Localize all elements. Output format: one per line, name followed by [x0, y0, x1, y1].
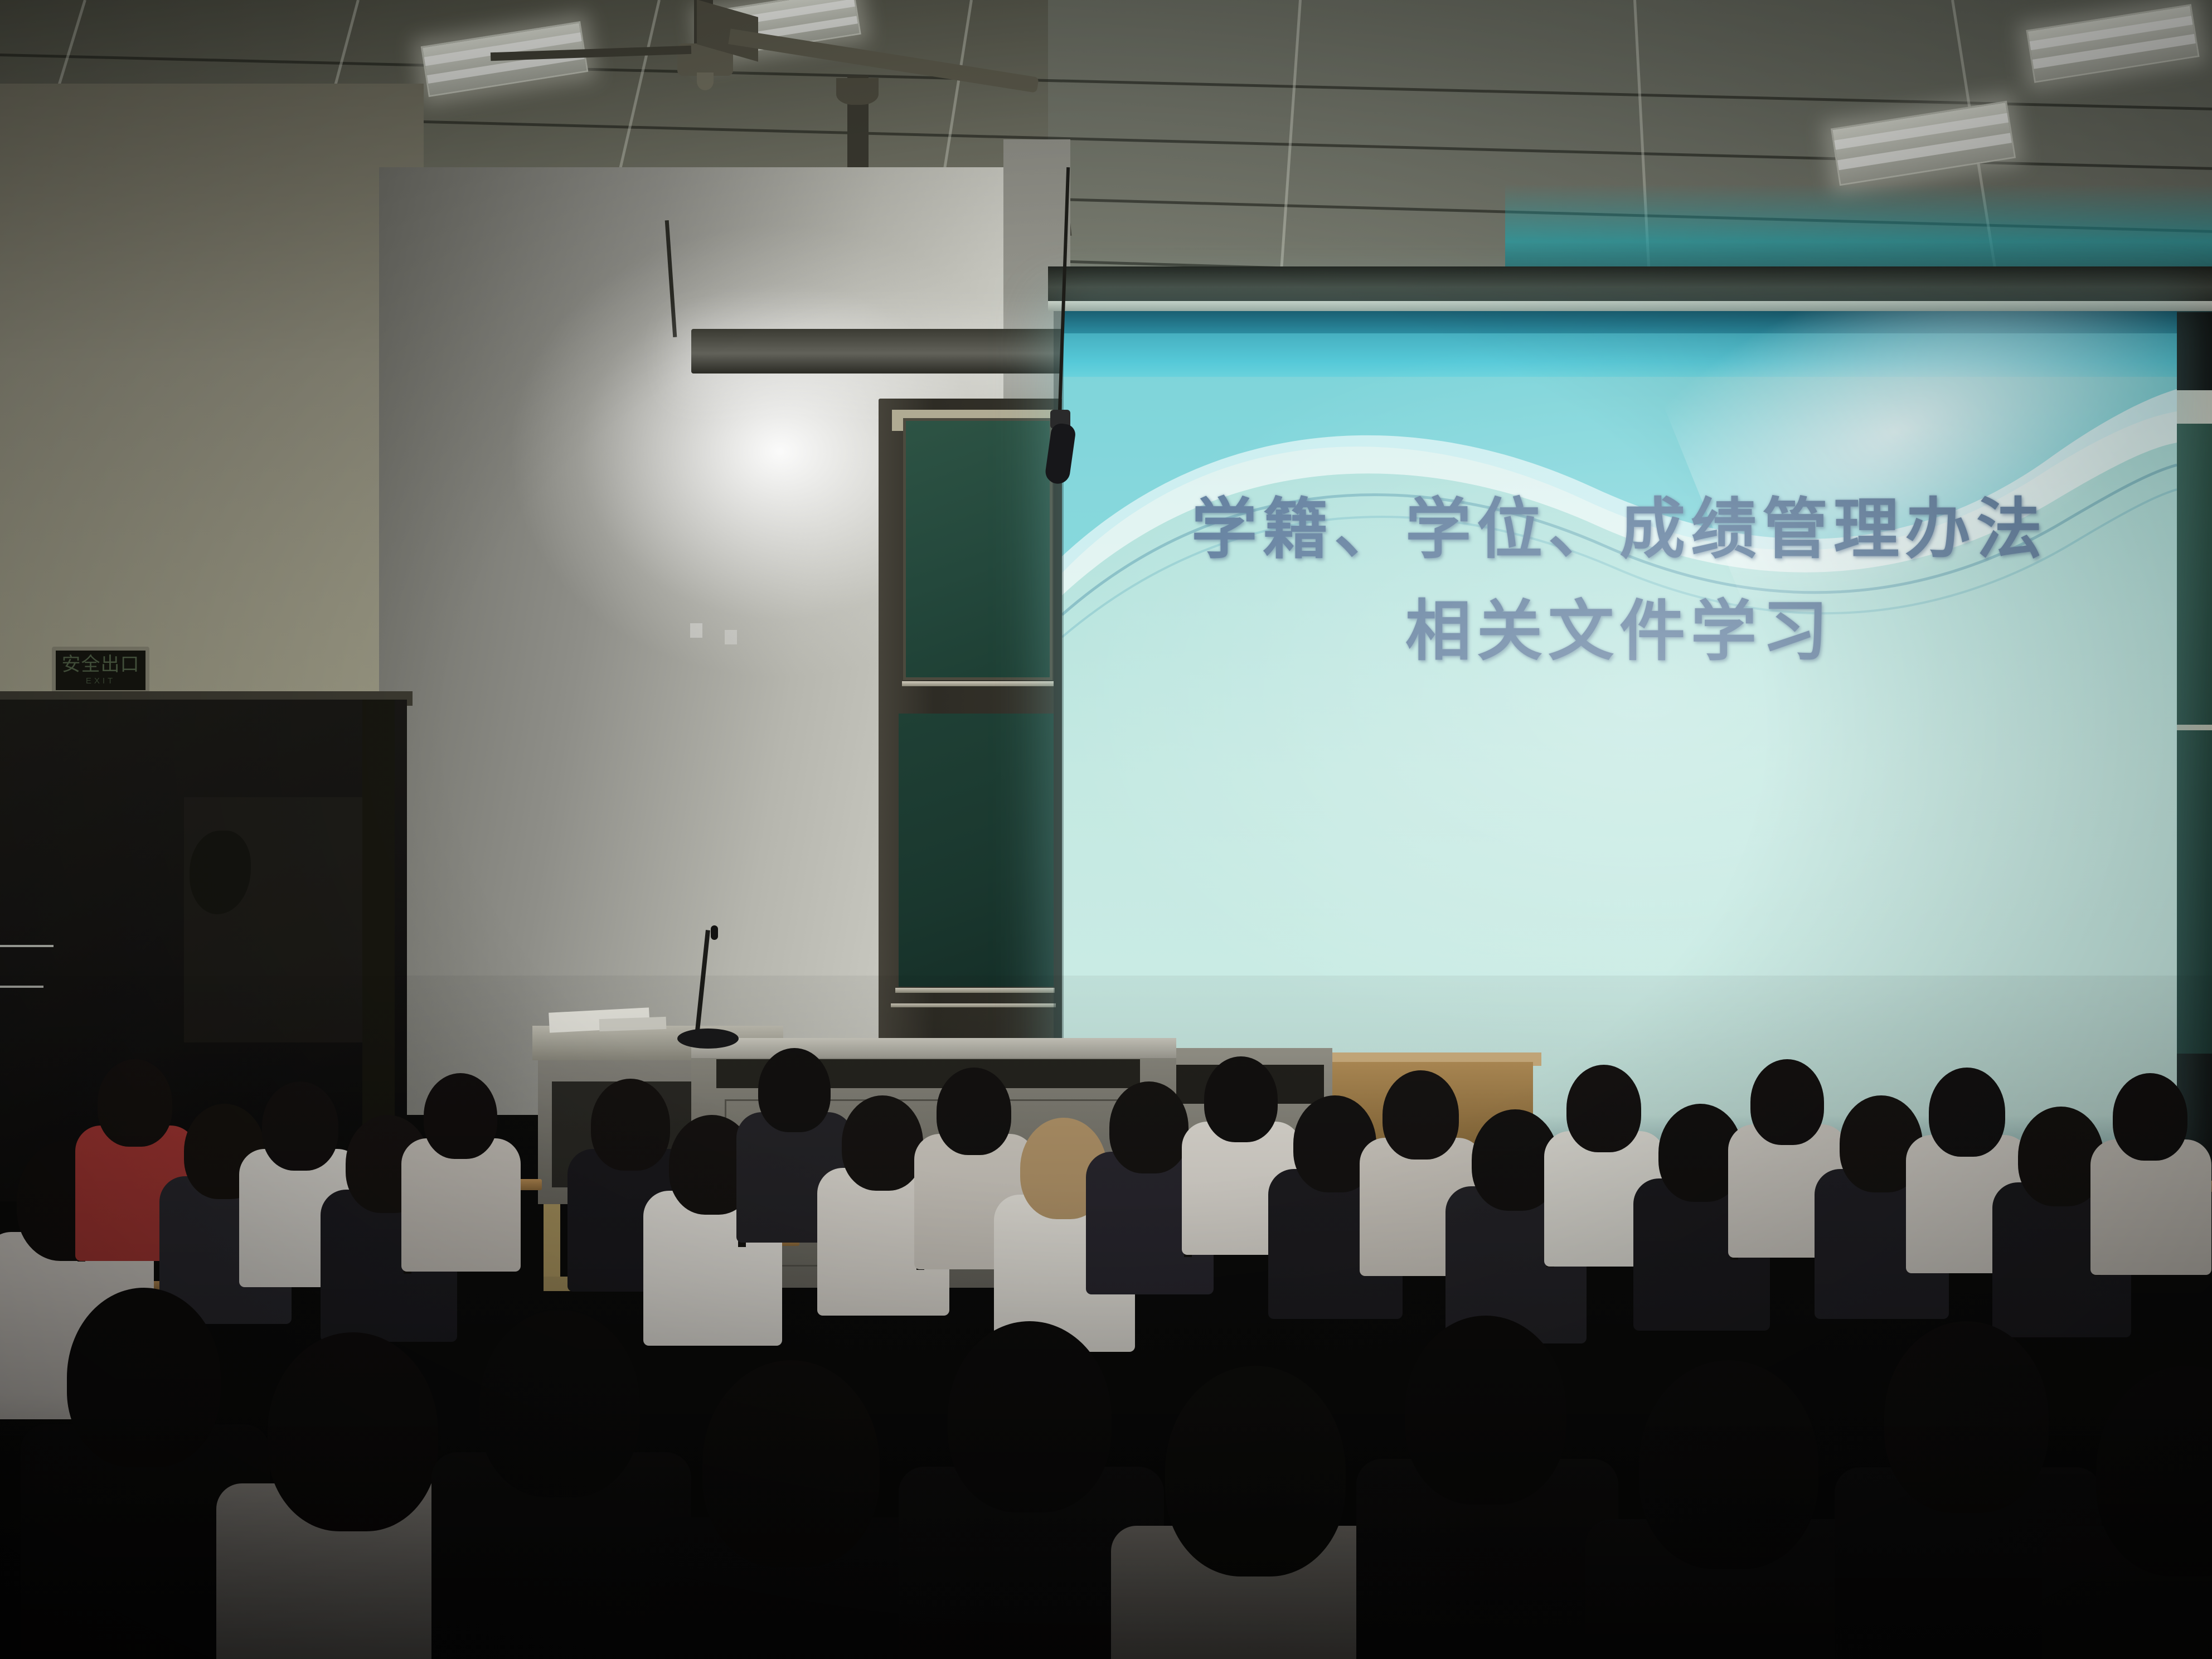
audience-member-head	[479, 1310, 640, 1497]
audience-member-head	[67, 1288, 221, 1467]
audience-member-head	[424, 1073, 497, 1159]
chalk-ledge	[902, 681, 1054, 686]
audience-member-head	[1109, 1081, 1189, 1173]
ceiling-fan-bulb	[697, 72, 714, 90]
exit-sign-label-zh: 安全出口	[62, 655, 140, 674]
wall-mark	[690, 623, 702, 638]
audience-member-head	[1405, 1316, 1566, 1505]
audience-member-head	[937, 1068, 1011, 1155]
ceiling-fan-cap	[836, 78, 879, 105]
audience-member-head	[262, 1081, 338, 1171]
lecture-hall-photo: 安全出口 EXIT 学籍、学位、成绩管理办法 相关文件学习	[0, 0, 2212, 1659]
audience-member-head	[591, 1079, 670, 1171]
audience-member-head	[1639, 1360, 1818, 1569]
projection-screen-housing-lip	[1048, 301, 2212, 311]
audience-member-head	[2096, 1366, 2212, 1576]
wall-mark	[725, 630, 737, 644]
audience	[0, 976, 2212, 1659]
audience-member-head	[1204, 1056, 1278, 1142]
chalkboard-lower	[899, 714, 1054, 987]
audience-member-head	[268, 1332, 438, 1531]
audience-member-head	[948, 1321, 1112, 1512]
audience-member-head	[702, 1360, 880, 1567]
audience-member-head	[842, 1095, 923, 1191]
audience-member-head	[1929, 1068, 2005, 1157]
audience-member-head	[1566, 1065, 1641, 1152]
chalkboard-upper	[903, 418, 1052, 680]
audience-member-head	[1750, 1059, 1824, 1145]
audience-member-head	[758, 1048, 831, 1132]
audience-member-head	[2113, 1073, 2187, 1161]
projection-screen-housing	[1048, 266, 2212, 301]
audience-member-head	[1165, 1366, 1346, 1576]
door-highlight	[0, 945, 54, 947]
audience-member-head	[1884, 1321, 2049, 1513]
gooseneck-microphone-icon	[711, 925, 718, 940]
audience-member-head	[98, 1059, 172, 1147]
wall-left	[0, 84, 424, 708]
exit-sign-label-en: EXIT	[86, 676, 115, 686]
wall-light-fixture	[691, 329, 1081, 373]
audience-member-head	[1382, 1070, 1459, 1160]
exit-sign: 安全出口 EXIT	[52, 647, 149, 694]
